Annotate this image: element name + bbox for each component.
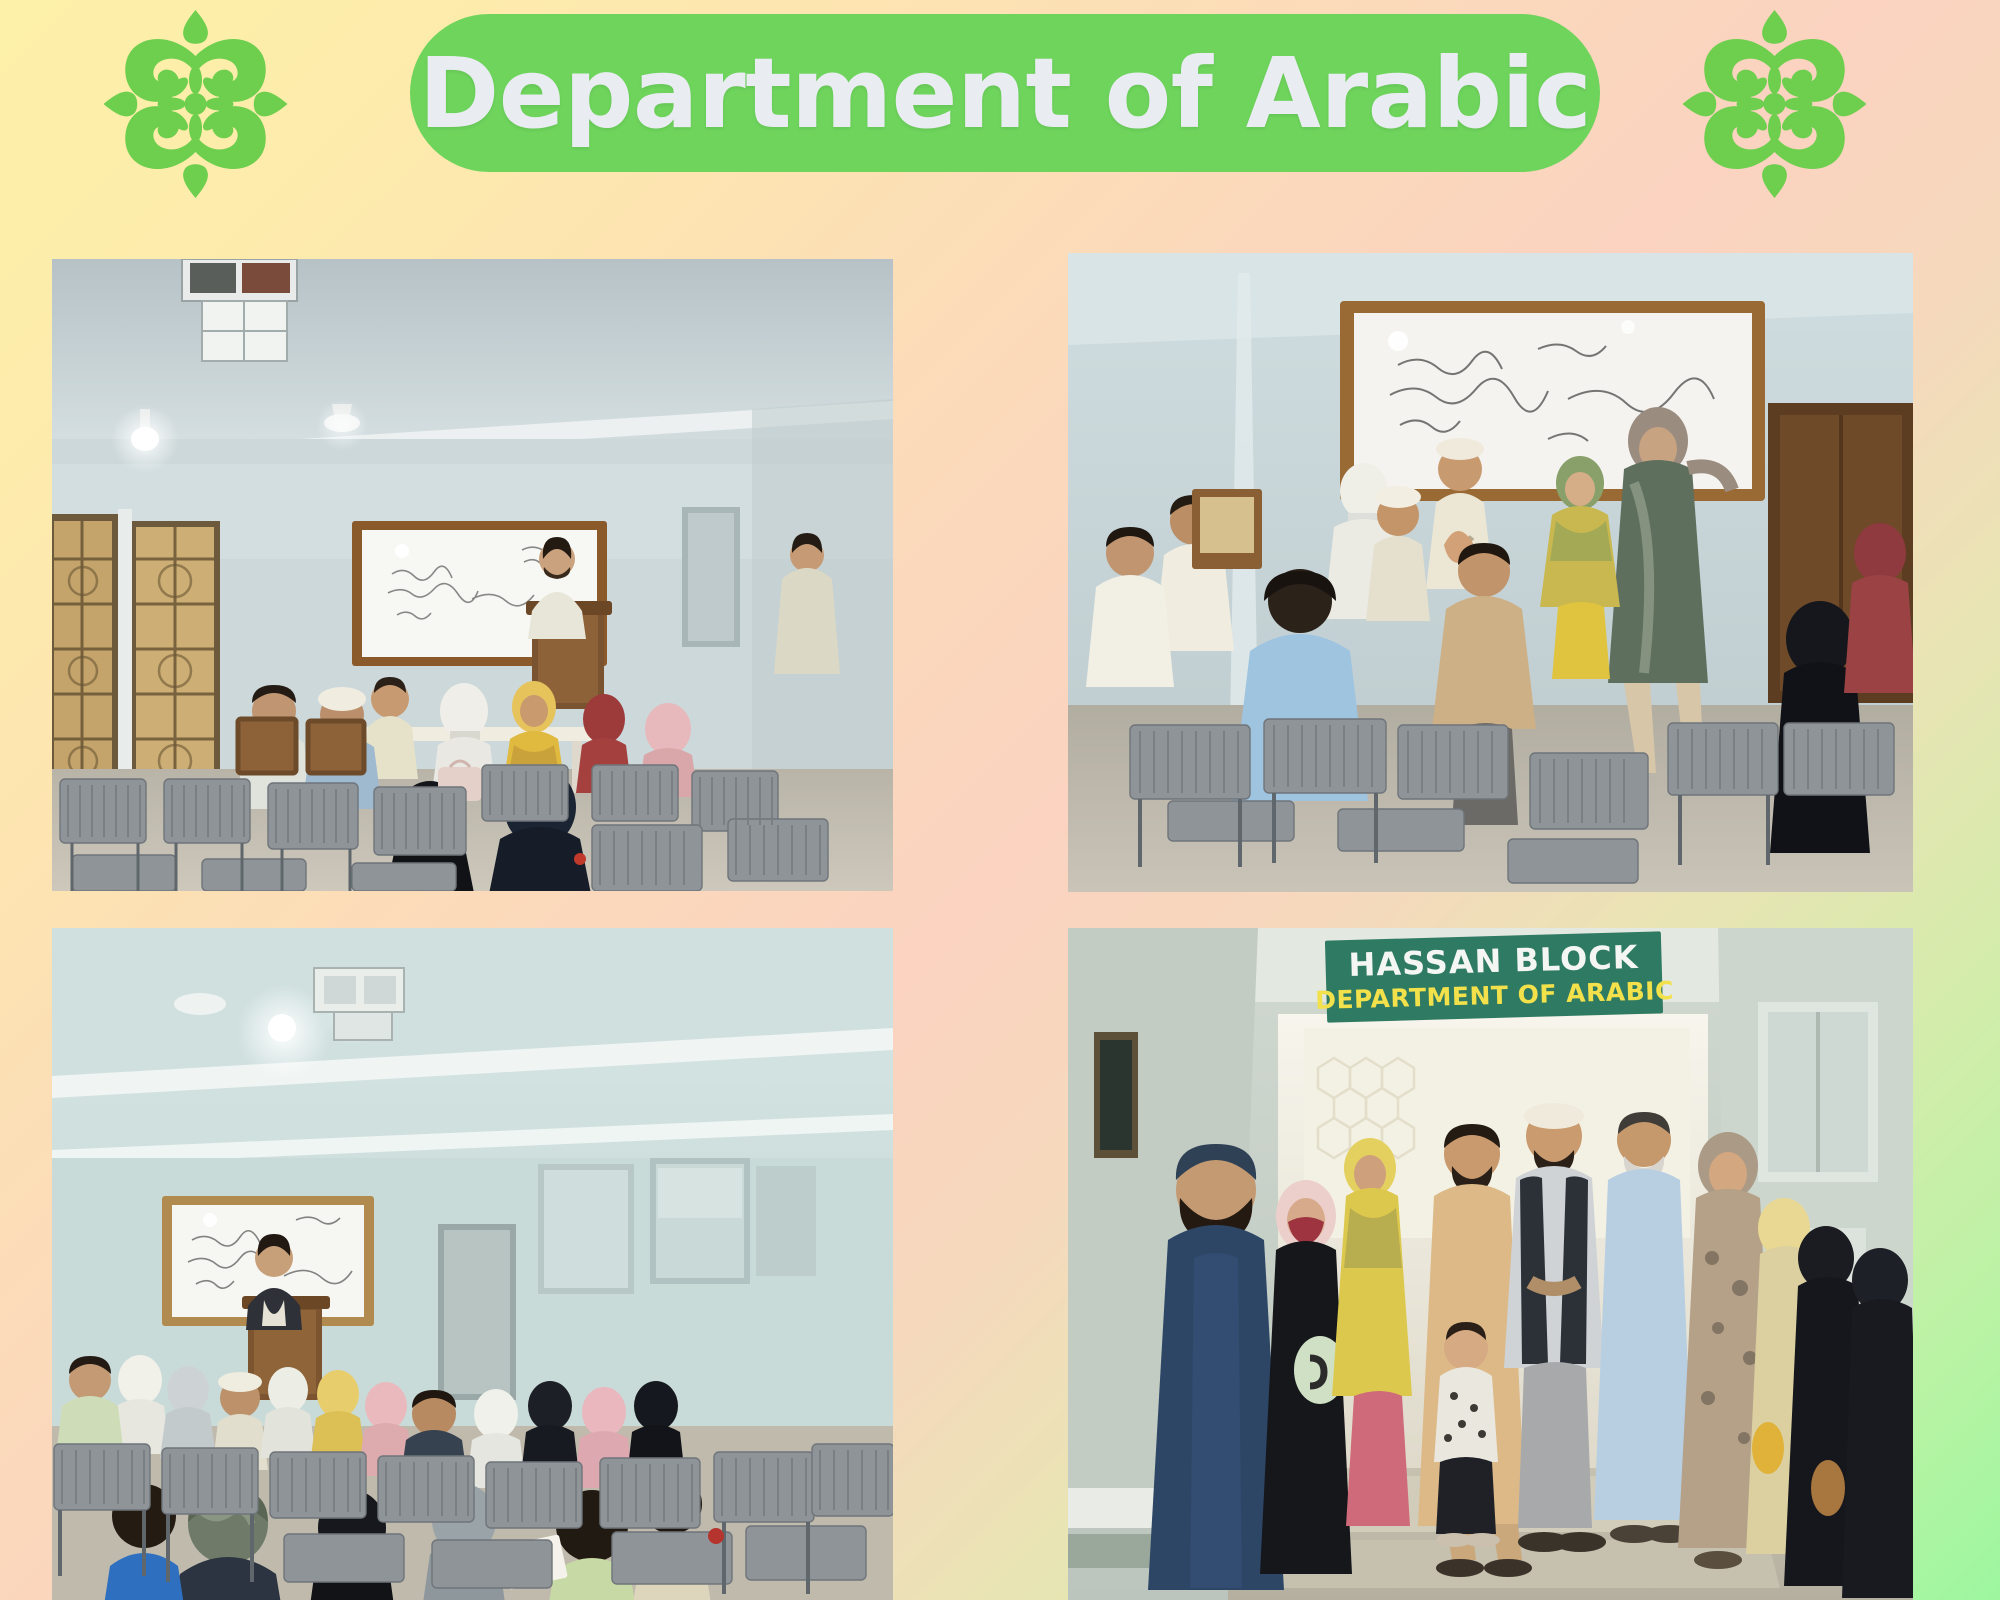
photo-classroom-seminar-wide[interactable]	[52, 259, 893, 891]
entrance-signboard: HASSAN BLOCK DEPARTMENT OF ARABIC	[1315, 931, 1674, 1022]
svg-text:HASSAN BLOCK: HASSAN BLOCK	[1348, 938, 1639, 984]
poster-stage: Department of Arabic	[0, 0, 2000, 1600]
photo-group-entrance[interactable]: HASSAN BLOCK DEPARTMENT OF ARABIC	[1068, 928, 1913, 1600]
photo-audience-seated[interactable]	[52, 928, 893, 1600]
photo-gallery: HASSAN BLOCK DEPARTMENT OF ARABIC	[0, 0, 2000, 1600]
photo-panel-discussion[interactable]	[1068, 253, 1913, 892]
